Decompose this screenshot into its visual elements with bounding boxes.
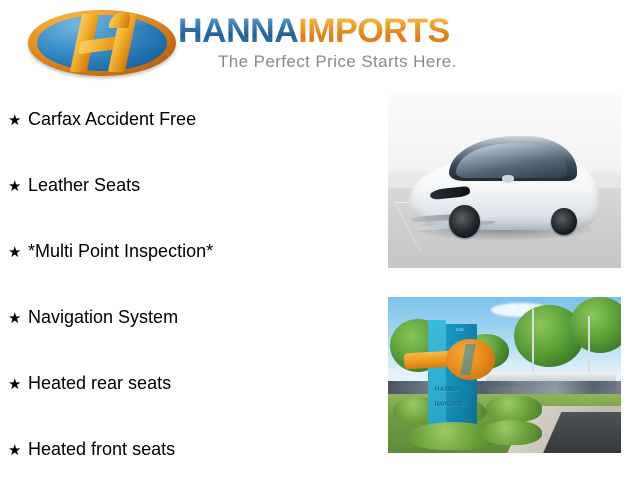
list-item: ★ Leather Seats: [8, 176, 140, 194]
logo-word-hanna: HANNA: [178, 12, 298, 50]
star-bullet-icon: ★: [8, 245, 28, 260]
feature-label: Heated front seats: [28, 440, 175, 458]
list-item: ★ Heated front seats: [8, 440, 175, 458]
vehicle-photo[interactable]: [388, 94, 621, 268]
logo-wordmark: HANNAIMPORTS: [178, 14, 450, 48]
list-item: ★ Heated rear seats: [8, 374, 171, 392]
feature-label: Carfax Accident Free: [28, 110, 196, 128]
vehicle-rear-wheel: [551, 208, 577, 235]
hanna-imports-oval-h-logo: [28, 10, 176, 76]
feature-label: Navigation System: [28, 308, 178, 326]
vehicle-feature-list: ★ Carfax Accident Free ★ Leather Seats ★…: [0, 96, 386, 480]
monument-sign-pylon-side: [428, 320, 447, 432]
dealer-branding-header: HANNAIMPORTS The Perfect Price Starts He…: [0, 0, 640, 88]
feature-label: Leather Seats: [28, 176, 140, 194]
logo-word-imports: IMPORTS: [298, 12, 449, 50]
dealership-photo[interactable]: 240 HANNA IMPORTS: [388, 297, 621, 453]
feature-label: Heated rear seats: [28, 374, 171, 392]
monument-sign-h-medallion: [446, 339, 495, 380]
list-item: ★ Carfax Accident Free: [8, 110, 196, 128]
star-bullet-icon: ★: [8, 377, 28, 392]
star-bullet-icon: ★: [8, 443, 28, 458]
sign-text-hanna: HANNA: [435, 387, 460, 394]
star-bullet-icon: ★: [8, 311, 28, 326]
feature-label: *Multi Point Inspection*: [28, 242, 213, 260]
hedge: [486, 395, 542, 422]
hedge: [481, 420, 542, 445]
star-bullet-icon: ★: [8, 179, 28, 194]
star-bullet-icon: ★: [8, 113, 28, 128]
sign-address-number: 240: [456, 327, 464, 332]
sign-text-imports: IMPORTS: [435, 402, 467, 409]
list-item: ★ *Multi Point Inspection*: [8, 242, 213, 260]
logo-tagline: The Perfect Price Starts Here.: [218, 52, 457, 72]
feature-sheet-page: HANNAIMPORTS The Perfect Price Starts He…: [0, 0, 640, 480]
list-item: ★ Navigation System: [8, 308, 178, 326]
vehicle-side-mirror: [502, 175, 514, 183]
